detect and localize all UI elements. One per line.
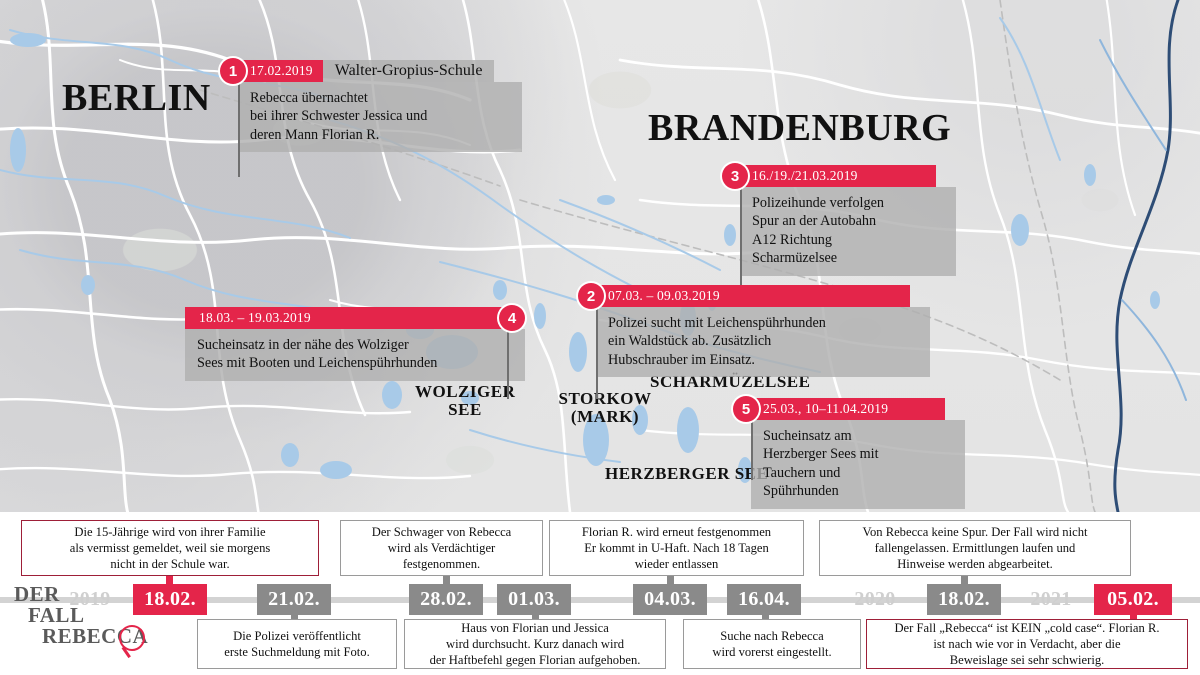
infographic-page: BERLIN BRANDENBURG WOLZIGER SEE STORKOW … <box>0 0 1200 675</box>
marker-5-header: 5 25.03., 10–11.04.2019 <box>733 398 965 420</box>
timeline-section: Die 15-Jährige wird von ihrer Familie al… <box>0 512 1200 675</box>
marker-5-number: 5 <box>733 396 759 422</box>
marker-3-date: 16./19./21.03.2019 <box>740 165 936 187</box>
marker-2-body: Polizei sucht mit Leichenspührhunden ein… <box>596 307 930 377</box>
marker-1-header: 1 17.02.2019 Walter-Gropius-Schule <box>220 60 522 82</box>
timeline-box-top-1[interactable]: Die 15-Jährige wird von ihrer Familie al… <box>21 520 319 576</box>
marker-2-stem <box>596 307 598 399</box>
marker-2-header: 2 07.03. – 09.03.2019 <box>578 285 930 307</box>
map-marker-4[interactable]: 18.03. – 19.03.2019 4 Sucheinsatz in der… <box>185 307 525 381</box>
marker-2-date: 07.03. – 09.03.2019 <box>596 285 910 307</box>
timeline-box-top-3[interactable]: Florian R. wird erneut festgenommen Er k… <box>549 520 804 576</box>
marker-4-body: Sucheinsatz in der nähe des Wolziger See… <box>185 329 525 381</box>
map-label-brandenburg: BRANDENBURG <box>648 108 951 149</box>
timeline-chip-01-03[interactable]: 01.03. <box>497 584 571 615</box>
timeline-chip-year-2020: 2020 <box>845 584 905 615</box>
timeline-chip-18-02-2020[interactable]: 18.02. <box>927 584 1001 615</box>
marker-2-number: 2 <box>578 283 604 309</box>
logo-line-1: DER <box>14 584 60 605</box>
marker-4-date: 18.03. – 19.03.2019 <box>185 307 508 329</box>
marker-4-header: 18.03. – 19.03.2019 4 <box>185 307 525 329</box>
marker-3-body: Polizeihunde verfolgen Spur an der Autob… <box>740 187 956 276</box>
map-marker-1[interactable]: 1 17.02.2019 Walter-Gropius-Schule Rebec… <box>220 60 522 152</box>
marker-1-title: Walter-Gropius-Schule <box>323 60 495 82</box>
map-marker-5[interactable]: 5 25.03., 10–11.04.2019 Sucheinsatz am H… <box>733 398 965 509</box>
timeline-box-top-4[interactable]: Von Rebecca keine Spur. Der Fall wird ni… <box>819 520 1131 576</box>
marker-5-date: 25.03., 10–11.04.2019 <box>751 398 945 420</box>
timeline-box-bottom-3[interactable]: Suche nach Rebecca wird vorerst eingeste… <box>683 619 861 669</box>
timeline-box-top-2[interactable]: Der Schwager von Rebecca wird als Verdäc… <box>340 520 543 576</box>
marker-4-stem <box>507 329 509 399</box>
map-label-storkow: STORKOW (MARK) <box>557 390 653 427</box>
timeline-box-bottom-4[interactable]: Der Fall „Rebecca“ ist KEIN „cold case“.… <box>866 619 1188 669</box>
map-label-wolziger-see: WOLZIGER SEE <box>415 383 515 420</box>
timeline-chip-year-2019: 2019 <box>62 584 118 615</box>
marker-1-body: Rebecca übernachtet bei ihrer Schwester … <box>238 82 522 152</box>
timeline-chip-04-03[interactable]: 04.03. <box>633 584 707 615</box>
magnifying-glass-icon <box>119 625 145 651</box>
map-label-berlin: BERLIN <box>62 78 211 119</box>
timeline-chip-05-02[interactable]: 05.02. <box>1094 584 1172 615</box>
marker-4-number: 4 <box>499 305 525 331</box>
marker-1-stem <box>238 82 240 177</box>
marker-1-date: 17.02.2019 <box>238 60 323 82</box>
timeline-chip-year-2021: 2021 <box>1022 584 1080 615</box>
marker-3-header: 3 16./19./21.03.2019 <box>722 165 956 187</box>
map-marker-3[interactable]: 3 16./19./21.03.2019 Polizeihunde verfol… <box>722 165 956 276</box>
map-marker-2[interactable]: 2 07.03. – 09.03.2019 Polizei sucht mit … <box>578 285 930 377</box>
marker-3-stem <box>740 187 742 287</box>
timeline-box-bottom-1[interactable]: Die Polizei veröffentlicht erste Suchmel… <box>197 619 397 669</box>
timeline-chip-16-04[interactable]: 16.04. <box>727 584 801 615</box>
marker-5-body: Sucheinsatz am Herzberger Sees mit Tauch… <box>751 420 965 509</box>
marker-1-number: 1 <box>220 58 246 84</box>
map-canvas: BERLIN BRANDENBURG WOLZIGER SEE STORKOW … <box>0 0 1200 512</box>
marker-5-stem <box>751 420 753 480</box>
marker-3-number: 3 <box>722 163 748 189</box>
timeline-box-bottom-2[interactable]: Haus von Florian und Jessica wird durchs… <box>404 619 666 669</box>
timeline-chip-18-02-2019[interactable]: 18.02. <box>133 584 207 615</box>
timeline-chip-21-02[interactable]: 21.02. <box>257 584 331 615</box>
timeline-chip-28-02[interactable]: 28.02. <box>409 584 483 615</box>
